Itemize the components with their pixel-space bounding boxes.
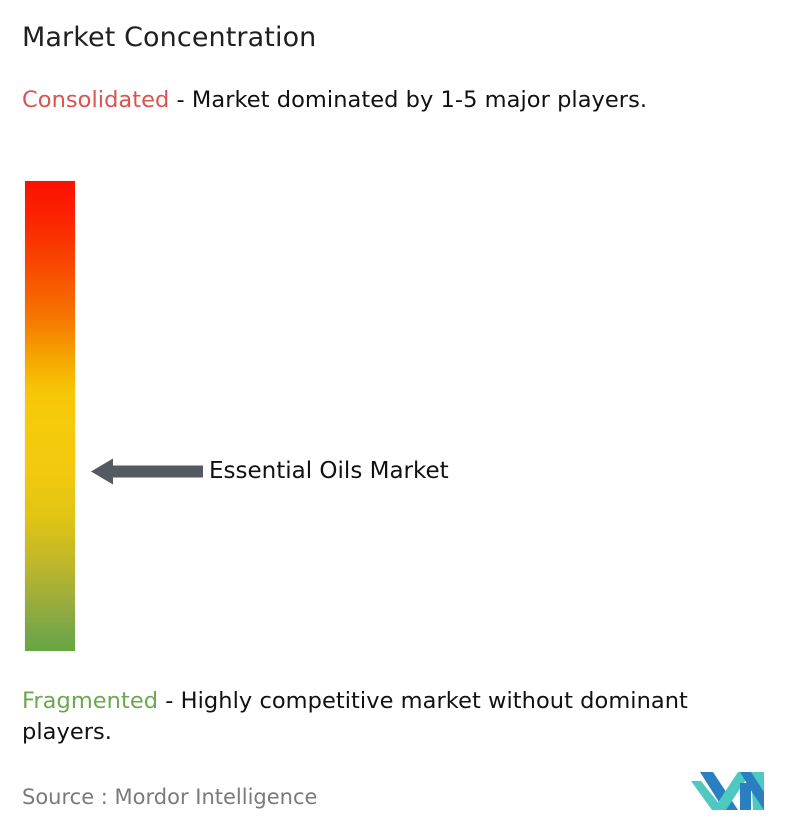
market-position-label: Essential Oils Market [209, 457, 449, 486]
legend-consolidated-keyword: Consolidated [22, 87, 169, 113]
mordor-intelligence-logo-icon [691, 770, 765, 810]
legend-consolidated: Consolidated - Market dominated by 1-5 m… [22, 85, 767, 116]
market-position-arrow-icon [91, 455, 203, 488]
page-title: Market Concentration [22, 21, 762, 55]
legend-fragmented: Fragmented - Highly competitive market w… [22, 686, 784, 748]
source-attribution: Source : Mordor Intelligence [22, 784, 317, 811]
legend-consolidated-description: - Market dominated by 1-5 major players. [169, 87, 647, 113]
legend-fragmented-keyword: Fragmented [22, 688, 158, 714]
market-concentration-scale-bar [25, 181, 75, 651]
market-concentration-infographic: Market Concentration Consolidated - Mark… [0, 0, 796, 834]
